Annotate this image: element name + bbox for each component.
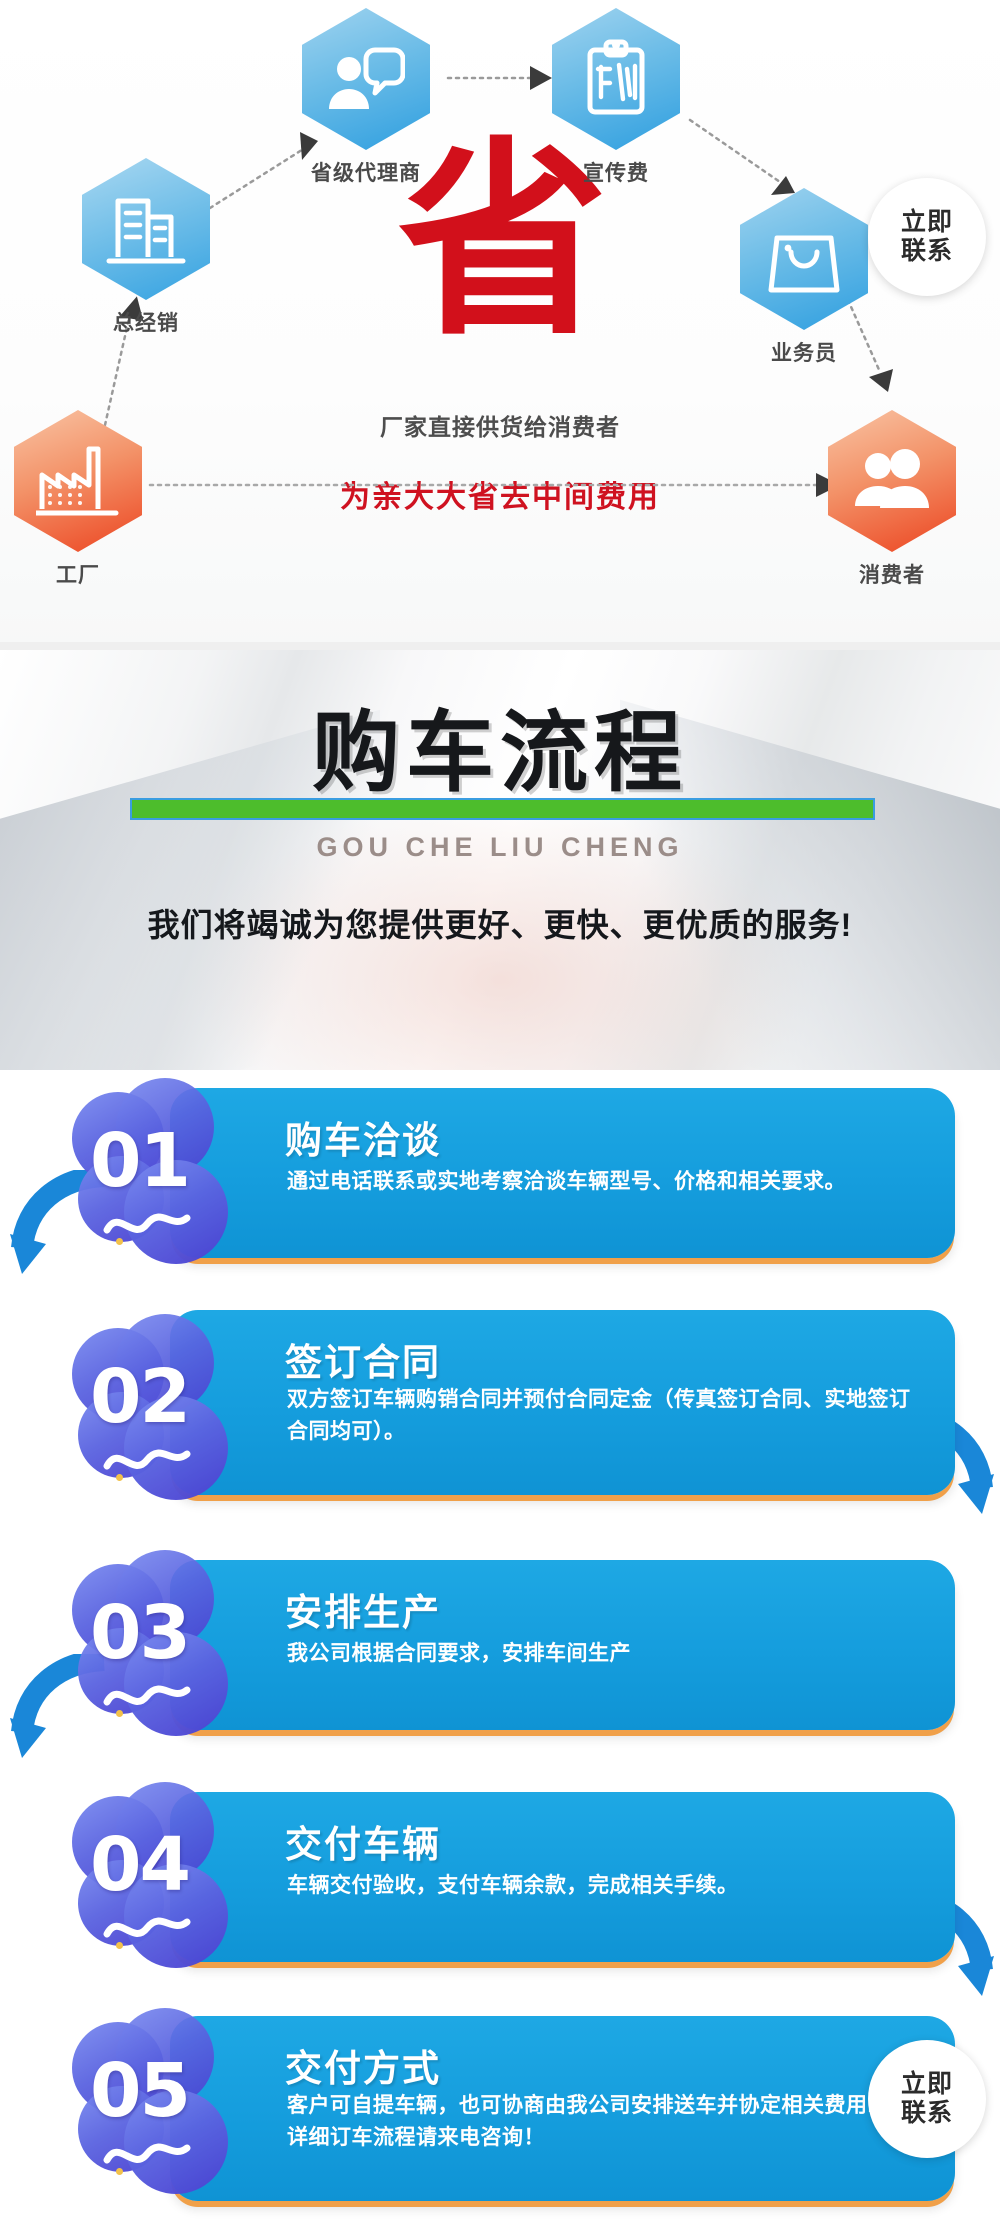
node-salesperson[interactable]: 业务员 bbox=[740, 188, 868, 367]
process-title: 购车流程 bbox=[0, 682, 1000, 809]
step-number-badge: 03 bbox=[72, 1550, 272, 1755]
clipboard-approval-icon bbox=[552, 8, 680, 150]
process-step-row: 签订合同 双方签订车辆购销合同并预付合同定金（传真签订合同、实地签订合同均可）。… bbox=[0, 1292, 1000, 1542]
node-label: 总经销 bbox=[82, 307, 210, 337]
gold-dot-accent bbox=[116, 2168, 123, 2175]
contact-line-2: 联系 bbox=[901, 237, 953, 266]
step-number-badge: 05 bbox=[72, 2008, 272, 2213]
step-title: 签订合同 bbox=[285, 1332, 441, 1386]
squiggle-icon bbox=[102, 1678, 192, 1714]
node-label: 省级代理商 bbox=[302, 157, 430, 187]
contact-line-2: 联系 bbox=[901, 2099, 953, 2128]
node-label: 工厂 bbox=[14, 559, 142, 589]
step-description: 双方签订车辆购销合同并预付合同定金（传真签订合同、实地签订合同均可）。 bbox=[287, 1384, 917, 1447]
step-card[interactable]: 交付车辆 车辆交付验收，支付车辆余款，完成相关手续。 bbox=[170, 1792, 955, 1962]
contact-now-button-top[interactable]: 立即 联系 bbox=[868, 178, 986, 296]
shopping-bag-icon bbox=[740, 188, 868, 330]
step-number: 02 bbox=[90, 1354, 189, 1440]
node-label: 消费者 bbox=[828, 559, 956, 589]
user-speech-bubble-icon bbox=[302, 8, 430, 150]
step-card[interactable]: 签订合同 双方签订车辆购销合同并预付合同定金（传真签订合同、实地签订合同均可）。 bbox=[170, 1310, 955, 1495]
node-general-distributor[interactable]: 总经销 bbox=[82, 158, 210, 337]
squiggle-icon bbox=[102, 1910, 192, 1946]
two-users-icon bbox=[828, 410, 956, 552]
step-number-badge: 01 bbox=[72, 1078, 272, 1283]
process-steps-list: 购车洽谈 通过电话联系或实地考察洽谈车辆型号、价格和相关要求。 01 bbox=[0, 1070, 1000, 2216]
step-description: 客户可自提车辆，也可协商由我公司安排送车并协定相关费用.更多详细订车流程请来电咨… bbox=[287, 2090, 917, 2153]
step-number-badge: 04 bbox=[72, 1782, 272, 1987]
step-card[interactable]: 安排生产 我公司根据合同要求，安排车间生产 bbox=[170, 1560, 955, 1730]
step-title: 购车洽谈 bbox=[285, 1110, 441, 1164]
gold-dot-accent bbox=[116, 1942, 123, 1949]
contact-line-1: 立即 bbox=[901, 2070, 953, 2099]
factory-icon bbox=[14, 410, 142, 552]
process-hero-banner: 购车流程 GOU CHE LIU CHENG 我们将竭诚为您提供更好、更快、更优… bbox=[0, 650, 1000, 1070]
step-title: 交付方式 bbox=[285, 2038, 441, 2092]
office-building-icon bbox=[82, 158, 210, 300]
step-card[interactable]: 购车洽谈 通过电话联系或实地考察洽谈车辆型号、价格和相关要求。 bbox=[170, 1088, 955, 1258]
gold-dot-accent bbox=[116, 1474, 123, 1481]
step-card[interactable]: 交付方式 客户可自提车辆，也可协商由我公司安排送车并协定相关费用.更多详细订车流… bbox=[170, 2016, 955, 2201]
node-factory[interactable]: 工厂 bbox=[14, 410, 142, 589]
step-number-badge: 02 bbox=[72, 1314, 272, 1519]
step-title: 安排生产 bbox=[285, 1582, 441, 1636]
step-title: 交付车辆 bbox=[285, 1814, 441, 1868]
process-step-row: 购车洽谈 通过电话联系或实地考察洽谈车辆型号、价格和相关要求。 01 bbox=[0, 1070, 1000, 1292]
gold-dot-accent bbox=[116, 1238, 123, 1245]
buying-process-section: 购车流程 GOU CHE LIU CHENG 我们将竭诚为您提供更好、更快、更优… bbox=[0, 650, 1000, 2230]
squiggle-icon bbox=[102, 1206, 192, 1242]
contact-line-1: 立即 bbox=[901, 208, 953, 237]
step-number: 03 bbox=[90, 1590, 189, 1676]
title-underline-bar bbox=[130, 798, 875, 820]
step-number: 01 bbox=[90, 1118, 189, 1204]
process-subtitle: 我们将竭诚为您提供更好、更快、更优质的服务! bbox=[0, 900, 1000, 946]
node-label: 宣传费 bbox=[552, 157, 680, 187]
step-description: 我公司根据合同要求，安排车间生产 bbox=[287, 1638, 917, 1670]
step-number: 04 bbox=[90, 1822, 189, 1908]
process-title-pinyin: GOU CHE LIU CHENG bbox=[0, 832, 1000, 863]
channel-savings-section: 省级代理商 宣传费 bbox=[0, 0, 1000, 650]
marketing-infographic-page: 省级代理商 宣传费 bbox=[0, 0, 1000, 2238]
process-step-row: 交付车辆 车辆交付验收，支付车辆余款，完成相关手续。 04 bbox=[0, 1774, 1000, 2006]
gold-dot-accent bbox=[116, 1710, 123, 1717]
process-step-row: 交付方式 客户可自提车辆，也可协商由我公司安排送车并协定相关费用.更多详细订车流… bbox=[0, 2006, 1000, 2216]
step-description: 通过电话联系或实地考察洽谈车辆型号、价格和相关要求。 bbox=[287, 1166, 917, 1198]
node-consumer[interactable]: 消费者 bbox=[828, 410, 956, 589]
contact-now-button-bottom[interactable]: 立即 联系 bbox=[868, 2040, 986, 2158]
process-step-row: 安排生产 我公司根据合同要求，安排车间生产 03 bbox=[0, 1542, 1000, 1774]
step-description: 车辆交付验收，支付车辆余款，完成相关手续。 bbox=[287, 1870, 917, 1902]
node-label: 业务员 bbox=[740, 337, 868, 367]
node-promotion-fee[interactable]: 宣传费 bbox=[552, 8, 680, 187]
squiggle-icon bbox=[102, 1442, 192, 1478]
node-provincial-agent[interactable]: 省级代理商 bbox=[302, 8, 430, 187]
squiggle-icon bbox=[102, 2136, 192, 2172]
step-number: 05 bbox=[90, 2048, 189, 2134]
